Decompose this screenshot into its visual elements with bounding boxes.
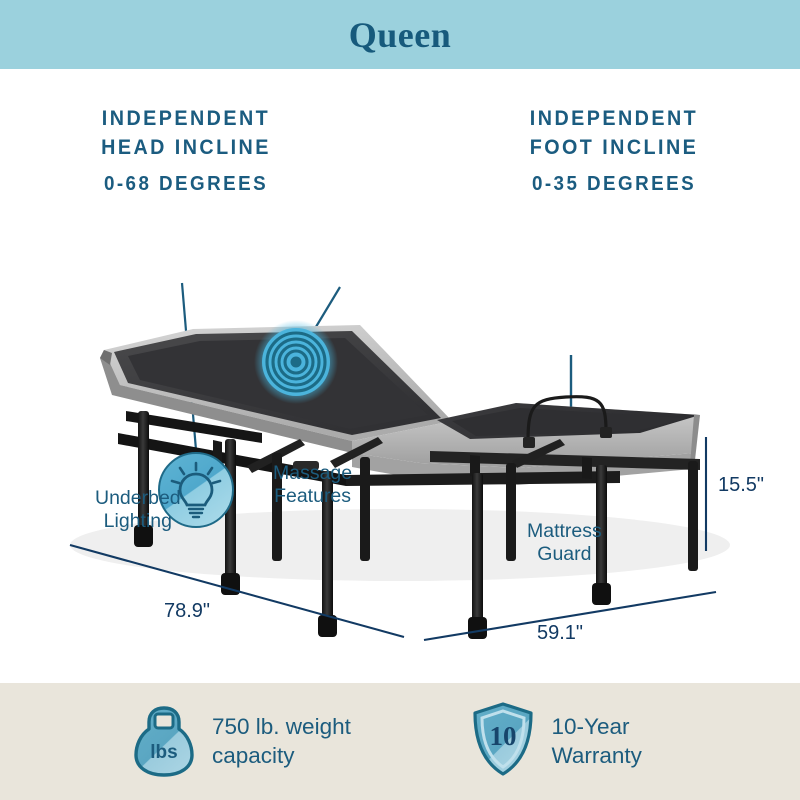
leg-inner-3 <box>506 463 516 561</box>
leg-inner-2 <box>360 457 370 561</box>
callout-underbed-lighting: Underbed Lighting <box>95 487 181 532</box>
callout-massage-line2: Features <box>273 485 352 508</box>
spec-head-degrees: 0-68 DEGREES <box>11 173 361 196</box>
page-title: Queen <box>349 17 452 53</box>
leg-foot-front <box>472 473 483 631</box>
feature-weight-line1: 750 lb. weight <box>212 714 351 739</box>
guard-bracket-left <box>523 437 535 448</box>
callout-underbed-line2: Lighting <box>95 510 181 533</box>
kettlebell-icon-label: lbs <box>150 742 177 763</box>
header-banner: Queen <box>0 0 800 69</box>
callout-underbed-line1: Underbed <box>95 487 181 510</box>
leg-foot-foot-front <box>468 617 487 639</box>
spec-foot-incline: INDEPENDENT FOOT INCLINE 0-35 DEGREES <box>402 105 800 196</box>
vibration-rings-icon <box>254 320 338 404</box>
guard-bracket-right <box>600 427 612 438</box>
spec-foot-line2: FOOT INCLINE <box>439 134 789 163</box>
product-illustration: Underbed Lighting Massage Features Mattr… <box>0 225 800 685</box>
leg-foot-foot-right <box>592 583 611 605</box>
kettlebell-icon: lbs <box>133 700 195 783</box>
frame-cross-3 <box>582 457 592 479</box>
callout-massage-line1: Massage <box>273 462 352 485</box>
leg-foot-rear <box>688 461 698 571</box>
shield-icon-label: 10 <box>489 721 516 751</box>
infographic-root: Queen INDEPENDENT HEAD INCLINE 0-68 DEGR… <box>0 0 800 800</box>
spec-columns: INDEPENDENT HEAD INCLINE 0-68 DEGREES IN… <box>0 105 800 196</box>
feature-warranty-line2: Warranty <box>552 742 642 770</box>
callout-mattress-line1: Mattress <box>527 520 602 543</box>
callout-massage-features: Massage Features <box>273 462 352 507</box>
feature-warranty-line1: 10-Year <box>552 714 630 739</box>
dimension-label-height: 15.5" <box>718 474 764 497</box>
dimension-label-length: 78.9" <box>164 600 210 623</box>
spec-foot-line1: INDEPENDENT <box>439 105 789 134</box>
spec-foot-degrees: 0-35 DEGREES <box>439 173 789 196</box>
dimension-label-width: 59.1" <box>537 622 583 645</box>
feature-weight-line2: capacity <box>212 742 351 770</box>
feature-warranty-text: 10-Year Warranty <box>552 713 642 770</box>
feature-weight-text: 750 lb. weight capacity <box>212 713 351 770</box>
feature-weight-capacity: lbs 750 lb. weight capacity <box>0 700 463 783</box>
feature-bar: lbs 750 lb. weight capacity <box>0 683 800 800</box>
spec-head-line2: HEAD INCLINE <box>11 134 361 163</box>
feature-warranty: 10 10-Year Warranty <box>463 700 800 783</box>
callout-mattress-guard: Mattress Guard <box>527 520 602 565</box>
spec-head-incline: INDEPENDENT HEAD INCLINE 0-68 DEGREES <box>0 105 402 196</box>
shield-icon: 10 <box>471 700 535 783</box>
adjustable-bed-drawing <box>0 225 800 685</box>
leg-head-mid <box>225 439 236 589</box>
callout-mattress-line2: Guard <box>527 543 602 566</box>
spec-head-line1: INDEPENDENT <box>11 105 361 134</box>
